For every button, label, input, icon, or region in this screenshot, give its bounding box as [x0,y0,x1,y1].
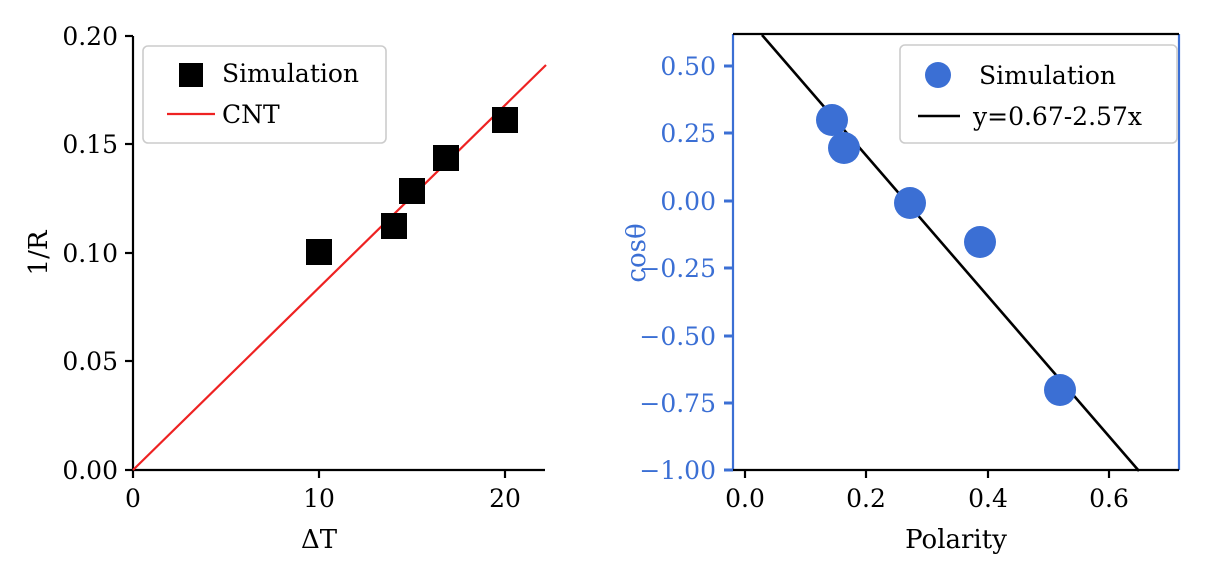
data-point-marker [306,239,332,265]
left-x-ticklabel: 0 [125,484,141,513]
data-point-marker [1044,374,1076,406]
data-point-marker [964,226,996,258]
right-legend-label-simulation: Simulation [979,61,1116,90]
data-point-marker [894,187,926,219]
left-y-ticklabel: 0.00 [62,456,118,485]
right-y-ticklabel: −1.00 [639,456,716,485]
left-plot-panel: 0.20 0.15 0.10 0.05 0.00 0 10 20 ΔT 1/R [0,0,612,576]
right-y-ticklabel: −0.75 [639,389,716,418]
left-y-ticklabel: 0.20 [62,22,118,51]
data-point-marker [828,132,860,164]
data-point-marker [381,213,407,239]
right-legend-label-fit: y=0.67-2.57x [972,102,1142,131]
right-x-ticklabel: 0.4 [968,484,1008,513]
right-y-ticks [724,66,733,470]
left-x-ticklabel: 10 [303,484,335,513]
left-y-ticks [125,36,133,470]
right-legend: Simulation y=0.67-2.57x [900,45,1177,143]
right-plot-svg: 0.50 0.25 0.00 −0.25 −0.50 −0.75 −1.00 0… [612,0,1224,576]
right-plot-panel: 0.50 0.25 0.00 −0.25 −0.50 −0.75 −1.00 0… [612,0,1224,576]
data-point-marker [399,178,425,204]
left-x-ticks [133,470,505,478]
right-y-axis-label: cosθ [622,223,652,282]
right-x-ticklabel: 0.2 [846,484,886,513]
data-point-marker [492,107,518,133]
left-legend: Simulation CNT [143,46,386,143]
right-x-axis-label: Polarity [905,525,1007,555]
right-simulation-markers [816,104,1076,406]
left-y-ticklabel: 0.10 [62,239,118,268]
left-y-ticklabel: 0.15 [62,130,118,159]
right-x-ticklabel: 0.0 [725,484,765,513]
legend-square-marker-icon [179,63,203,87]
right-x-ticks [745,470,1109,478]
left-legend-label-cnt: CNT [222,100,280,129]
right-y-ticklabel: 0.25 [660,119,716,148]
left-y-ticklabel: 0.05 [62,347,118,376]
right-y-ticklabel: −0.50 [639,322,716,351]
left-x-axis-label: ΔT [301,525,338,555]
legend-circle-marker-icon [925,62,951,88]
left-x-ticklabel: 20 [489,484,521,513]
figure-container: 0.20 0.15 0.10 0.05 0.00 0 10 20 ΔT 1/R [0,0,1224,576]
data-point-marker [816,104,848,136]
data-point-marker [433,145,459,171]
right-y-ticklabel: 0.00 [660,187,716,216]
left-legend-label-simulation: Simulation [222,59,359,88]
right-y-ticklabel: 0.50 [660,52,716,81]
left-plot-svg: 0.20 0.15 0.10 0.05 0.00 0 10 20 ΔT 1/R [0,0,612,576]
left-y-axis-label: 1/R [24,229,54,275]
right-x-ticklabel: 0.6 [1089,484,1129,513]
